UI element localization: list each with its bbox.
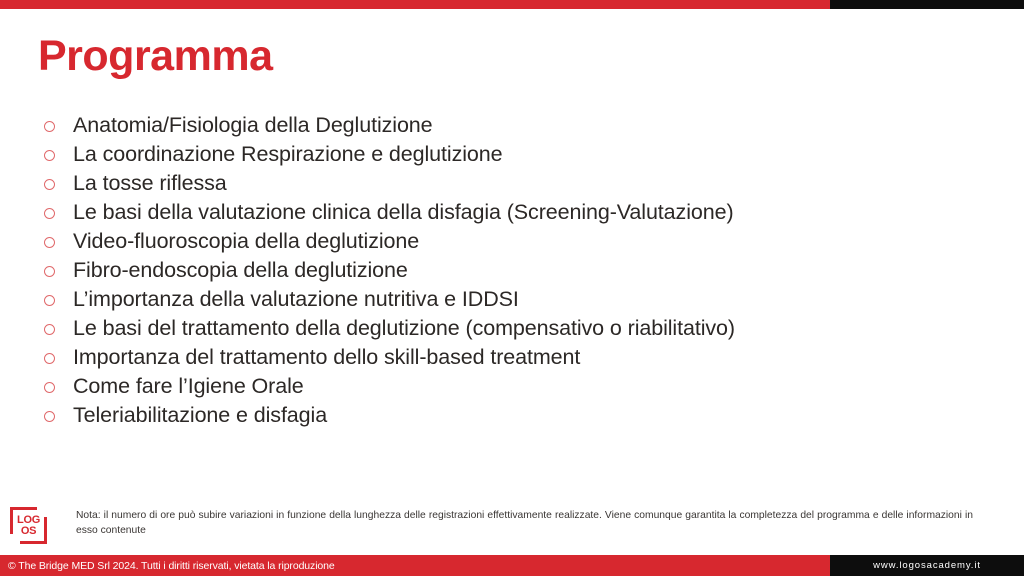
list-item: La tosse riflessa [44,169,994,198]
list-item-label: Importanza del trattamento dello skill-b… [73,343,994,372]
circle-bullet-icon [44,237,55,248]
website-url: www.logosacademy.it [873,560,981,571]
disclaimer-note: Nota: il numero di ore può subire variaz… [76,505,1014,538]
circle-bullet-icon [44,295,55,306]
list-item-label: La tosse riflessa [73,169,994,198]
top-accent-bar [0,0,1024,9]
logo-line-1: LOG [17,515,40,526]
circle-bullet-icon [44,324,55,335]
list-item-label: Le basi del trattamento della deglutizio… [73,314,994,343]
list-item: La coordinazione Respirazione e deglutiz… [44,140,994,169]
circle-bullet-icon [44,150,55,161]
circle-bullet-icon [44,411,55,422]
footer-bar: © The Bridge MED Srl 2024. Tutti i dirit… [0,555,1024,576]
page-title: Programma [38,34,272,79]
list-item-label: Video-fluoroscopia della deglutizione [73,227,994,256]
list-item-label: Come fare l’Igiene Orale [73,372,994,401]
circle-bullet-icon [44,121,55,132]
list-item: Le basi della valutazione clinica della … [44,198,994,227]
list-item-label: Fibro-endoscopia della deglutizione [73,256,994,285]
circle-bullet-icon [44,266,55,277]
list-item: Fibro-endoscopia della deglutizione [44,256,994,285]
list-item: Come fare l’Igiene Orale [44,372,994,401]
list-item-label: Anatomia/Fisiologia della Deglutizione [73,111,994,140]
list-item: Anatomia/Fisiologia della Deglutizione [44,111,994,140]
list-item: Importanza del trattamento dello skill-b… [44,343,994,372]
circle-bullet-icon [44,353,55,364]
top-accent-bar-red-segment [0,0,830,9]
note-row: LOG OS Nota: il numero di ore può subire… [10,505,1014,544]
logos-logo-icon: LOG OS [10,507,47,544]
list-item-label: La coordinazione Respirazione e deglutiz… [73,140,994,169]
footer-url-segment: www.logosacademy.it [830,555,1024,576]
list-item-label: L’importanza della valutazione nutritiva… [73,285,994,314]
circle-bullet-icon [44,382,55,393]
list-item: Le basi del trattamento della deglutizio… [44,314,994,343]
footer-copyright-segment: © The Bridge MED Srl 2024. Tutti i dirit… [0,555,830,576]
top-accent-bar-black-segment [830,0,1024,9]
logo-line-2: OS [21,526,36,537]
circle-bullet-icon [44,179,55,190]
list-item-label: Le basi della valutazione clinica della … [73,198,994,227]
list-item: L’importanza della valutazione nutritiva… [44,285,994,314]
copyright-text: © The Bridge MED Srl 2024. Tutti i dirit… [0,560,335,572]
list-item-label: Teleriabilitazione e disfagia [73,401,994,430]
list-item: Teleriabilitazione e disfagia [44,401,994,430]
program-list: Anatomia/Fisiologia della Deglutizione L… [44,111,994,430]
logo-wordmark: LOG OS [10,507,47,544]
circle-bullet-icon [44,208,55,219]
list-item: Video-fluoroscopia della deglutizione [44,227,994,256]
